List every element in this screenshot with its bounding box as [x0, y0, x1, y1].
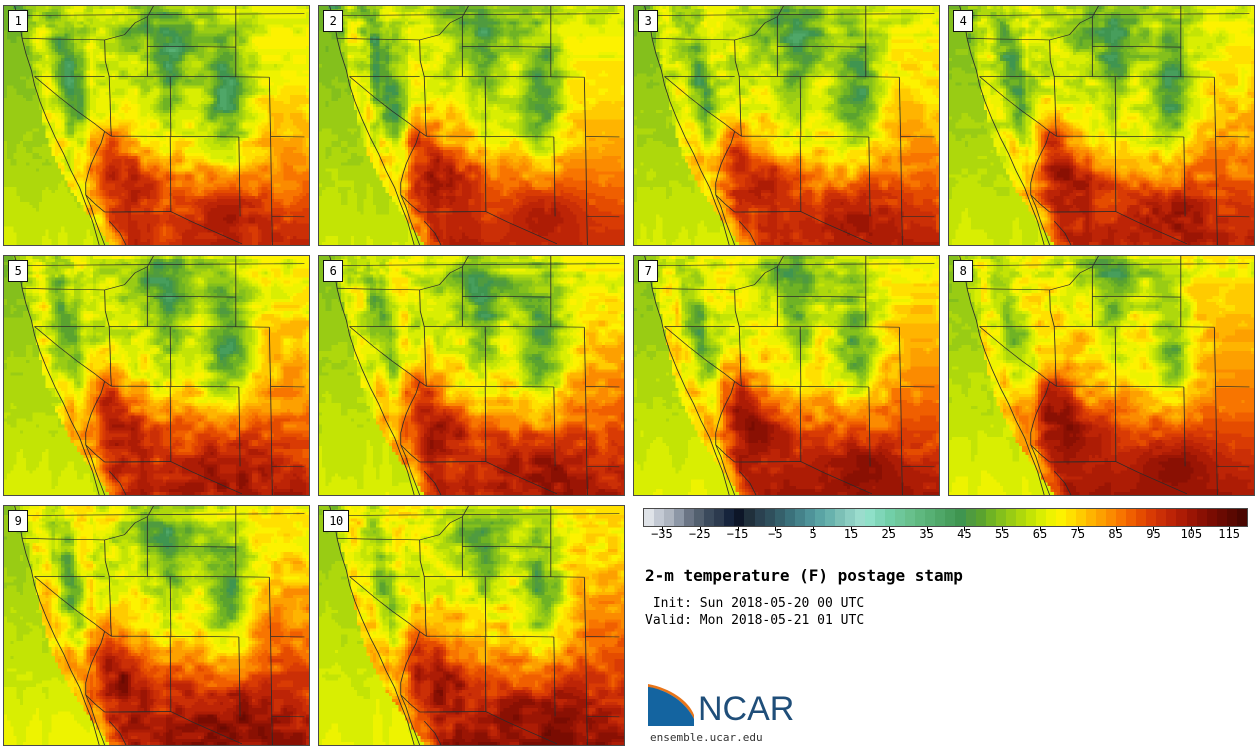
- postage-stamp-figure: 12345678910 −35−25−15−551525354555657585…: [0, 0, 1260, 746]
- temperature-field: [319, 6, 624, 245]
- temperature-field: [319, 256, 624, 495]
- colorbar-swatch: [976, 509, 986, 526]
- colorbar-swatch: [825, 509, 835, 526]
- temperature-field: [4, 506, 309, 745]
- colorbar-tick-label: 35: [919, 527, 933, 541]
- colorbar-swatch: [1126, 509, 1136, 526]
- colorbar-swatch: [744, 509, 754, 526]
- colorbar-swatch: [1026, 509, 1036, 526]
- colorbar-swatch: [935, 509, 945, 526]
- temperature-field: [634, 6, 939, 245]
- temperature-field: [949, 6, 1254, 245]
- colorbar-tick-label: −5: [768, 527, 782, 541]
- colorbar-tick-label: 55: [995, 527, 1009, 541]
- colorbar-swatch: [1237, 509, 1247, 526]
- page-title: 2-m temperature (F) postage stamp: [645, 566, 963, 585]
- colorbar-swatch: [945, 509, 955, 526]
- colorbar-tick-label: 45: [957, 527, 971, 541]
- colorbar-swatch: [1046, 509, 1056, 526]
- colorbar-swatch: [1187, 509, 1197, 526]
- temperature-field: [634, 256, 939, 495]
- map-panel-9[interactable]: 9: [3, 505, 310, 746]
- colorbar-tick-label: 5: [810, 527, 817, 541]
- map-panel-10[interactable]: 10: [318, 505, 625, 746]
- panel-number-badge: 4: [953, 10, 973, 32]
- colorbar-swatch: [895, 509, 905, 526]
- map-panel-6[interactable]: 6: [318, 255, 625, 496]
- panel-number-badge: 7: [638, 260, 658, 282]
- map-panel-3[interactable]: 3: [633, 5, 940, 246]
- colorbar-swatch: [996, 509, 1006, 526]
- colorbar-swatch: [1056, 509, 1066, 526]
- map-panel-7[interactable]: 7: [633, 255, 940, 496]
- colorbar-swatch: [885, 509, 895, 526]
- colorbar-swatch: [1227, 509, 1237, 526]
- ncar-url[interactable]: ensemble.ucar.edu: [650, 731, 763, 744]
- colorbar-swatch: [955, 509, 965, 526]
- colorbar-swatch: [795, 509, 805, 526]
- colorbar-swatch: [905, 509, 915, 526]
- colorbar-swatch: [986, 509, 996, 526]
- colorbar-swatch: [704, 509, 714, 526]
- panel-number-badge: 1: [8, 10, 28, 32]
- colorbar-swatch: [815, 509, 825, 526]
- panel-number-badge: 10: [323, 510, 349, 532]
- colorbar-swatch: [654, 509, 664, 526]
- colorbar-swatch: [1166, 509, 1176, 526]
- panel-number-badge: 9: [8, 510, 28, 532]
- panel-number-badge: 5: [8, 260, 28, 282]
- colorbar-swatch: [734, 509, 744, 526]
- colorbar-swatch: [1096, 509, 1106, 526]
- colorbar-swatch: [714, 509, 724, 526]
- map-panel-2[interactable]: 2: [318, 5, 625, 246]
- panel-number-badge: 6: [323, 260, 343, 282]
- valid-time-label: Valid: Mon 2018-05-21 01 UTC: [645, 612, 864, 629]
- temperature-field: [4, 256, 309, 495]
- map-panel-4[interactable]: 4: [948, 5, 1255, 246]
- map-panel-1[interactable]: 1: [3, 5, 310, 246]
- colorbar-swatch: [1217, 509, 1227, 526]
- colorbar-swatch: [875, 509, 885, 526]
- colorbar-tick-label: −15: [727, 527, 749, 541]
- colorbar-swatch: [724, 509, 734, 526]
- colorbar-swatch: [1036, 509, 1046, 526]
- map-panel-5[interactable]: 5: [3, 255, 310, 496]
- colorbar-swatch: [1106, 509, 1116, 526]
- colorbar-swatch: [765, 509, 775, 526]
- colorbar-swatch: [1066, 509, 1076, 526]
- panel-number-badge: 3: [638, 10, 658, 32]
- colorbar-swatch: [775, 509, 785, 526]
- colorbar-swatch: [855, 509, 865, 526]
- colorbar-tick-label: 75: [1071, 527, 1085, 541]
- colorbar-swatch: [1176, 509, 1186, 526]
- colorbar-tick-label: 95: [1146, 527, 1160, 541]
- panel-number-badge: 8: [953, 260, 973, 282]
- colorbar-swatch: [1146, 509, 1156, 526]
- colorbar-swatch: [1116, 509, 1126, 526]
- colorbar-tick-label: 115: [1218, 527, 1240, 541]
- init-time-label: Init: Sun 2018-05-20 00 UTC: [645, 595, 864, 612]
- colorbar-tick-label: 25: [882, 527, 896, 541]
- temperature-field: [4, 6, 309, 245]
- colorbar-swatch: [966, 509, 976, 526]
- colorbar-swatch: [1076, 509, 1086, 526]
- colorbar-swatch: [865, 509, 875, 526]
- map-panel-8[interactable]: 8: [948, 255, 1255, 496]
- colorbar-swatch: [925, 509, 935, 526]
- colorbar-swatch: [684, 509, 694, 526]
- ncar-wordmark: NCAR: [698, 690, 794, 728]
- colorbar-swatch: [915, 509, 925, 526]
- colorbar-swatch: [644, 509, 654, 526]
- colorbar-swatch: [1136, 509, 1146, 526]
- colorbar-tick-labels: −35−25−15−55152535455565758595105115: [643, 527, 1248, 547]
- colorbar-tick-label: 65: [1033, 527, 1047, 541]
- panel-number-badge: 2: [323, 10, 343, 32]
- colorbar-swatch: [1197, 509, 1207, 526]
- colorbar-swatch: [1016, 509, 1026, 526]
- colorbar-tick-label: −25: [689, 527, 711, 541]
- colorbar-tick-label: 85: [1108, 527, 1122, 541]
- temperature-field: [949, 256, 1254, 495]
- colorbar-swatch: [1006, 509, 1016, 526]
- colorbar-swatch: [805, 509, 815, 526]
- temperature-colorbar[interactable]: [643, 508, 1248, 527]
- colorbar-swatch: [845, 509, 855, 526]
- colorbar-swatch: [664, 509, 674, 526]
- colorbar-swatch: [835, 509, 845, 526]
- colorbar-tick-label: 105: [1180, 527, 1202, 541]
- colorbar-tick-label: −35: [651, 527, 673, 541]
- colorbar-swatch: [785, 509, 795, 526]
- colorbar-swatch: [1156, 509, 1166, 526]
- colorbar-tick-label: 15: [844, 527, 858, 541]
- colorbar-swatch: [694, 509, 704, 526]
- colorbar-swatch: [1086, 509, 1096, 526]
- colorbar-swatch: [674, 509, 684, 526]
- colorbar-swatch: [755, 509, 765, 526]
- colorbar-swatch: [1207, 509, 1217, 526]
- temperature-field: [319, 506, 624, 745]
